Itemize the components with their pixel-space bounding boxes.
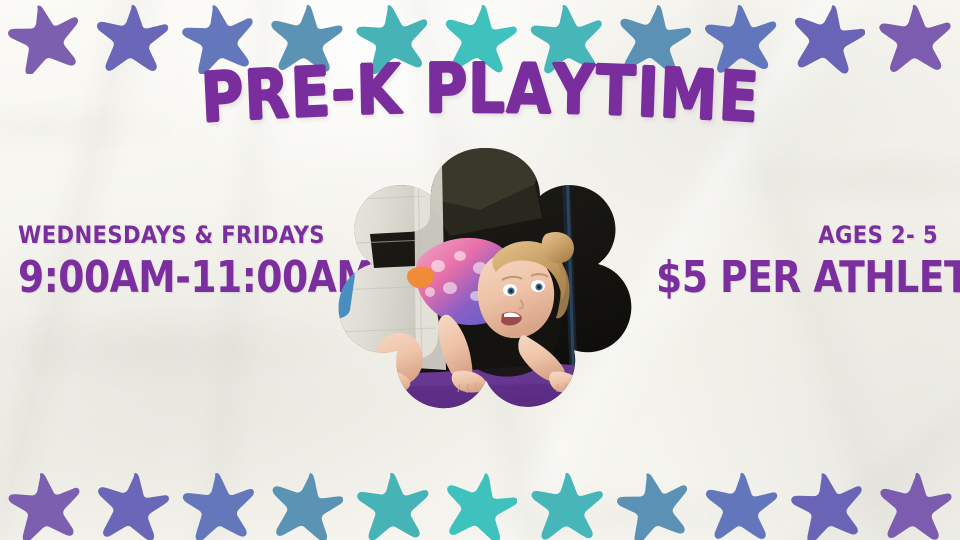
star-decoration	[791, 2, 865, 74]
star-decoration	[182, 470, 256, 540]
poster-canvas: PRE-K PLAYTIME WEDNESDAYS & FRIDAYS 9:00…	[0, 0, 960, 540]
star-decoration	[617, 470, 691, 540]
star-decoration	[95, 2, 169, 74]
star-decoration	[8, 2, 82, 74]
star-decoration	[443, 470, 517, 540]
photo-content	[330, 140, 640, 440]
star-decoration	[530, 470, 604, 540]
schedule-days: WEDNESDAYS & FRIDAYS	[18, 222, 294, 250]
age-range: AGES 2- 5	[662, 222, 938, 250]
star-decoration	[356, 2, 430, 74]
flower-photo-frame	[330, 140, 640, 440]
star-decoration	[704, 2, 778, 74]
schedule-block: WEDNESDAYS & FRIDAYS 9:00AM-11:00AM	[18, 222, 318, 299]
star-row-top	[0, 2, 960, 74]
star-decoration	[443, 2, 517, 74]
price: $5 PER ATHLETE	[656, 253, 938, 303]
schedule-hours: 9:00AM-11:00AM	[18, 253, 300, 303]
star-decoration	[791, 470, 865, 540]
star-decoration	[704, 470, 778, 540]
star-decoration	[269, 2, 343, 74]
star-decoration	[8, 470, 82, 540]
pricing-block: AGES 2- 5 $5 PER ATHLETE	[638, 222, 938, 299]
star-decoration	[95, 470, 169, 540]
star-decoration	[878, 470, 952, 540]
star-decoration	[530, 2, 604, 74]
star-row-bottom	[0, 470, 960, 540]
star-decoration	[617, 2, 691, 74]
star-decoration	[878, 2, 952, 74]
star-decoration	[356, 470, 430, 540]
star-decoration	[269, 470, 343, 540]
star-decoration	[182, 2, 256, 74]
